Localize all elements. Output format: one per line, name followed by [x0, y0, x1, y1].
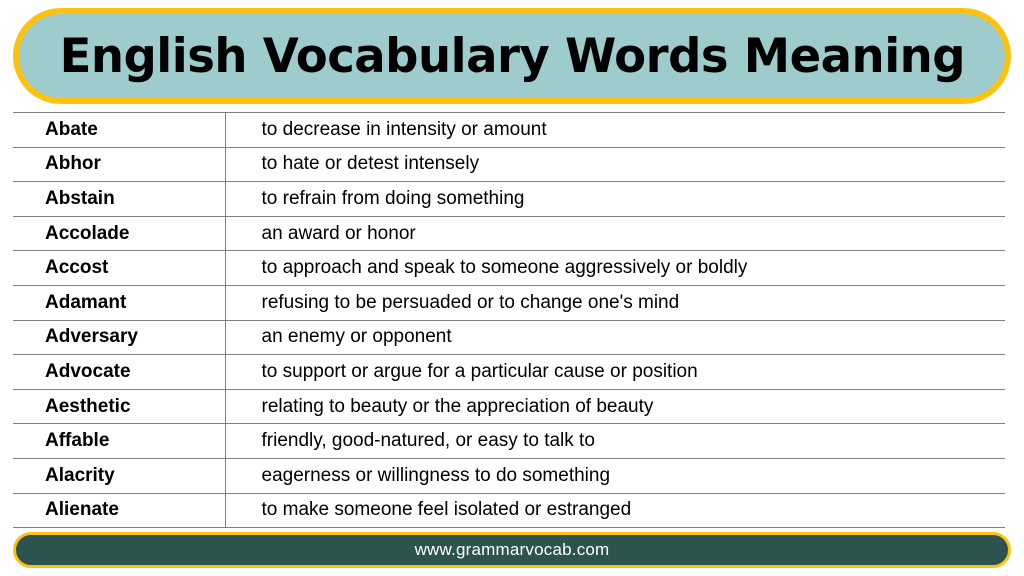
table-row: Alienate to make someone feel isolated o…	[13, 493, 1005, 528]
vocabulary-word: Accost	[13, 251, 225, 286]
vocabulary-meaning: relating to beauty or the appreciation o…	[225, 389, 1005, 424]
vocabulary-meaning: to make someone feel isolated or estrang…	[225, 493, 1005, 528]
vocabulary-word: Adversary	[13, 320, 225, 355]
vocabulary-word: Adamant	[13, 285, 225, 320]
table-row: Alacrity eagerness or willingness to do …	[13, 458, 1005, 493]
footer-bar: www.grammarvocab.com	[13, 532, 1011, 568]
header-banner: English Vocabulary Words Meaning	[13, 8, 1011, 104]
vocabulary-meaning: to refrain from doing something	[225, 182, 1005, 217]
table-row: Accolade an award or honor	[13, 216, 1005, 251]
vocabulary-table: Abate to decrease in intensity or amount…	[13, 112, 1005, 528]
website-url: www.grammarvocab.com	[415, 540, 610, 560]
vocabulary-word: Advocate	[13, 355, 225, 390]
table-row: Accost to approach and speak to someone …	[13, 251, 1005, 286]
vocabulary-meaning: to decrease in intensity or amount	[225, 113, 1005, 148]
page-title: English Vocabulary Words Meaning	[59, 33, 965, 80]
vocabulary-meaning: an award or honor	[225, 216, 1005, 251]
vocabulary-word: Affable	[13, 424, 225, 459]
vocabulary-word: Abhor	[13, 147, 225, 182]
table-row: Abstain to refrain from doing something	[13, 182, 1005, 217]
vocabulary-word: Accolade	[13, 216, 225, 251]
table-row: Adversary an enemy or opponent	[13, 320, 1005, 355]
vocabulary-meaning: eagerness or willingness to do something	[225, 458, 1005, 493]
vocabulary-table-body: Abate to decrease in intensity or amount…	[13, 113, 1005, 528]
table-row: Affable friendly, good-natured, or easy …	[13, 424, 1005, 459]
table-row: Aesthetic relating to beauty or the appr…	[13, 389, 1005, 424]
vocabulary-meaning: an enemy or opponent	[225, 320, 1005, 355]
vocabulary-word: Aesthetic	[13, 389, 225, 424]
vocabulary-word: Alacrity	[13, 458, 225, 493]
vocabulary-word: Abate	[13, 113, 225, 148]
vocabulary-meaning: to hate or detest intensely	[225, 147, 1005, 182]
table-row: Abate to decrease in intensity or amount	[13, 113, 1005, 148]
vocabulary-word: Abstain	[13, 182, 225, 217]
table-row: Abhor to hate or detest intensely	[13, 147, 1005, 182]
vocabulary-meaning: refusing to be persuaded or to change on…	[225, 285, 1005, 320]
vocabulary-worksheet-page: English Vocabulary Words Meaning Abate t…	[0, 0, 1024, 576]
table-row: Adamant refusing to be persuaded or to c…	[13, 285, 1005, 320]
vocabulary-meaning: to support or argue for a particular cau…	[225, 355, 1005, 390]
table-row: Advocate to support or argue for a parti…	[13, 355, 1005, 390]
vocabulary-meaning: friendly, good-natured, or easy to talk …	[225, 424, 1005, 459]
vocabulary-meaning: to approach and speak to someone aggress…	[225, 251, 1005, 286]
vocabulary-word: Alienate	[13, 493, 225, 528]
